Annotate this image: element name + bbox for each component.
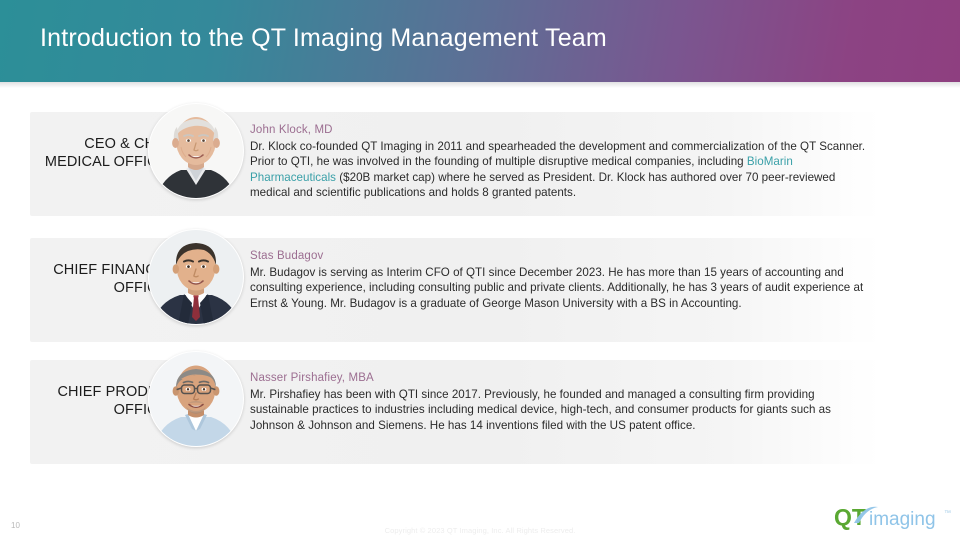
headshot-stas-budagov-icon [148,229,244,325]
person-name: Stas Budagov [250,250,872,262]
page-title: Introduction to the QT Imaging Managemen… [40,24,607,53]
svg-text:imaging: imaging [869,509,936,530]
list-item: CHIEF PRODUCT OFFICER [30,360,880,464]
qt-imaging-logo: QT imaging ™ [834,503,952,533]
copyright-notice: Copyright © 2023 QT Imaging, Inc. All Ri… [0,526,960,535]
desc-part-2: ($20B market cap) where he served as Pre… [250,171,835,200]
slide-header-band: Introduction to the QT Imaging Managemen… [0,0,960,82]
person-description: Mr. Budagov is serving as Interim CFO of… [250,265,872,312]
bio-text-block: John Klock, MD Dr. Klock co-founded QT I… [250,124,872,201]
person-description: Mr. Pirshafiey has been with QTI since 2… [250,387,872,434]
bio-text-block: Nasser Pirshafiey, MBA Mr. Pirshafiey ha… [250,372,872,433]
avatar [148,229,244,325]
desc-part-1: Mr. Pirshafiey has been with QTI since 2… [250,388,831,432]
desc-part-1: Mr. Budagov is serving as Interim CFO of… [250,266,863,310]
avatar [148,351,244,447]
qt-imaging-logo-icon: QT imaging ™ [834,503,952,533]
person-name: Nasser Pirshafiey, MBA [250,372,872,384]
slide-canvas: Introduction to the QT Imaging Managemen… [0,0,960,540]
headshot-nasser-pirshafiey-icon [148,351,244,447]
list-item: CEO & CHIEF MEDICAL OFFICER [30,112,880,216]
avatar [148,103,244,199]
person-description: Dr. Klock co-founded QT Imaging in 2011 … [250,139,872,201]
bio-text-block: Stas Budagov Mr. Budagov is serving as I… [250,250,872,311]
person-name: John Klock, MD [250,124,872,136]
headshot-john-klock-icon [148,103,244,199]
list-item: CHIEF FINANCIAL OFFICER [30,238,880,342]
svg-text:™: ™ [944,510,951,517]
